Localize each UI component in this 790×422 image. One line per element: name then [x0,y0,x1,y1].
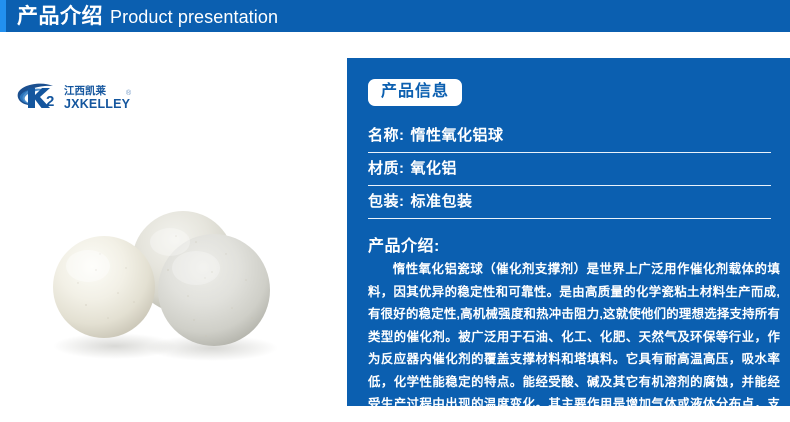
product-info-panel: 产品信息 名称: 惰性氧化铝球 材质: 氧化铝 包装: 标准包装 产品介绍: 惰… [347,58,790,406]
page-header: 产品介绍 Product presentation [0,0,790,32]
spec-value-material: 氧化铝 [411,157,458,178]
spec-row-material: 材质: 氧化铝 [368,153,771,186]
product-info-badge: 产品信息 [368,79,462,106]
spec-label-material: 材质: [368,157,405,178]
header-accent-bar [0,0,6,32]
company-logo: 2 江西凯莱 JXKELLEY ® [16,79,136,113]
product-spec-list: 名称: 惰性氧化铝球 材质: 氧化铝 包装: 标准包装 [368,120,771,219]
product-photo [0,150,347,382]
product-image-column: 2 江西凯莱 JXKELLEY ® [0,32,347,422]
svg-text:®: ® [126,89,132,97]
page-title-en: Product presentation [110,8,278,26]
spec-value-name: 惰性氧化铝球 [411,124,504,145]
spec-label-packaging: 包装: [368,190,405,211]
product-presentation-page: 产品介绍 Product presentation 2 江西凯莱 JXKELLE… [0,0,790,422]
spec-value-packaging: 标准包装 [411,190,473,211]
header-title-group: 产品介绍 Product presentation [17,6,278,27]
svg-text:JXKELLEY: JXKELLEY [64,97,131,111]
spec-row-name: 名称: 惰性氧化铝球 [368,120,771,153]
spec-row-packaging: 包装: 标准包装 [368,186,771,219]
svg-text:2: 2 [46,93,54,110]
description-body: 惰性氧化铝瓷球（催化剂支撑剂）是世界上广泛用作催化剂载体的填料，因其优异的稳定性… [368,258,780,422]
spec-label-name: 名称: [368,124,405,145]
page-title-cn: 产品介绍 [17,6,103,27]
svg-text:江西凯莱: 江西凯莱 [64,84,106,97]
description-heading: 产品介绍: [368,232,440,256]
